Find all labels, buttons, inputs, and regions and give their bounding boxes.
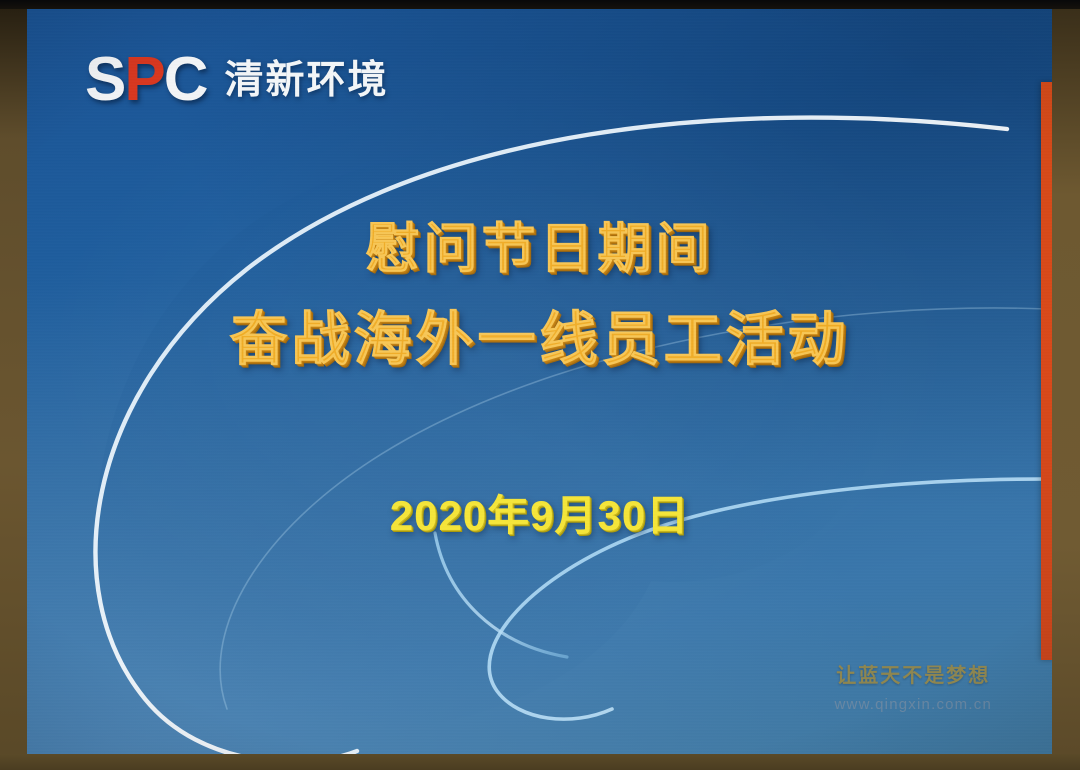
projector-scanlines [27, 9, 1052, 754]
company-logo: SPC 清新环境 [85, 49, 389, 111]
logo-letter-c: C [164, 45, 207, 114]
frame-border-left [0, 0, 27, 770]
footer-tagline: 让蓝天不是梦想 [835, 662, 993, 691]
accent-stripe [1041, 82, 1052, 660]
logo-mark-spc: SPC [85, 49, 207, 111]
logo-wordmark: 清新环境 [225, 61, 389, 100]
slide-footer: 让蓝天不是梦想 www.qingxin.com.cn [835, 662, 993, 716]
frame-border-right [1052, 9, 1080, 754]
slide-title-line-2: 奋战海外一线员工活动 [27, 305, 1052, 376]
logo-letter-p: P [124, 45, 163, 114]
slide-date: 2020年9月30日 [27, 482, 1052, 543]
slide-title-line-1: 慰问节日期间 [27, 217, 1052, 283]
swoosh-decoration-graphic [27, 9, 1052, 754]
projector-vignette [27, 9, 1052, 754]
swoosh-outer-arc [96, 118, 1007, 754]
presentation-slide: SPC 清新环境 慰问节日期间 奋战海外一线员工活动 2020年9月30日 让蓝… [27, 9, 1052, 754]
footer-website-url: www.qingxin.com.cn [835, 694, 993, 716]
frame-border-bottom [0, 754, 1080, 770]
frame-border-top [0, 0, 1080, 9]
photo-frame: SPC 清新环境 慰问节日期间 奋战海外一线员工活动 2020年9月30日 让蓝… [0, 0, 1080, 770]
slide-title-block: 慰问节日期间 奋战海外一线员工活动 [27, 217, 1052, 376]
logo-letter-s: S [85, 45, 124, 114]
swoosh-hook-arc [435, 533, 567, 657]
